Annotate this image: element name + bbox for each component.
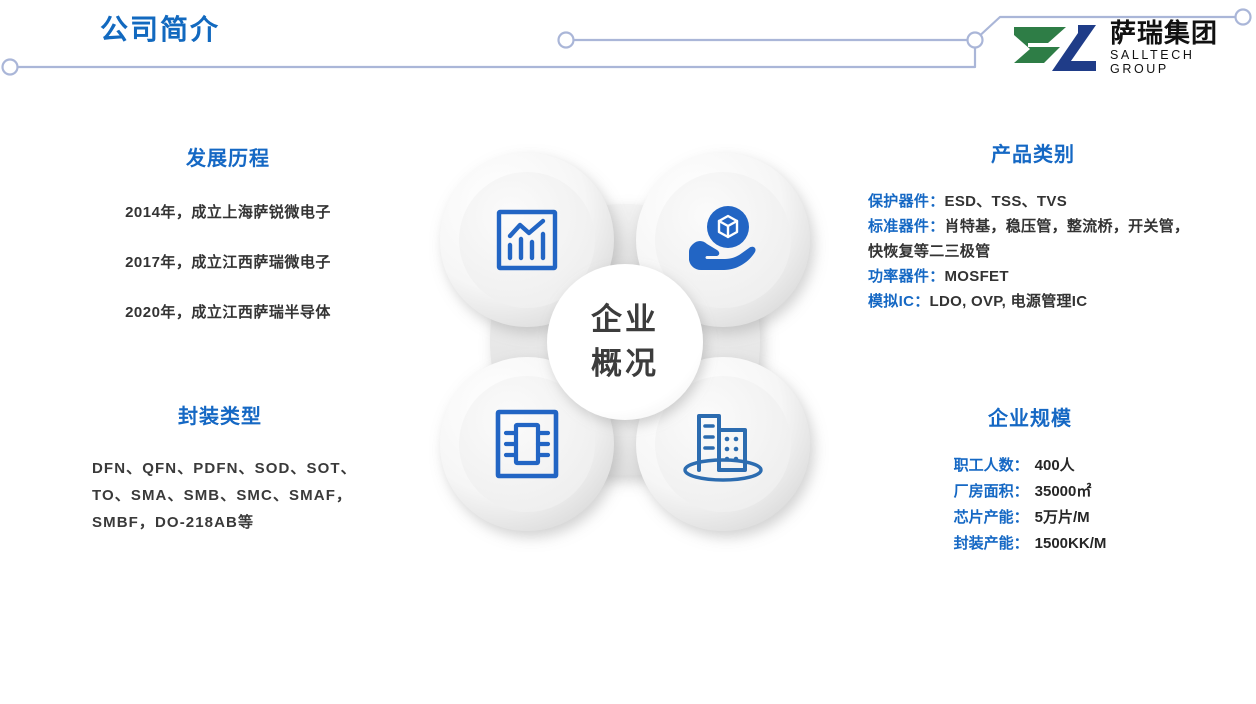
- product-label: 模拟IC：: [868, 293, 930, 310]
- history-item: 2020年，成立江西萨瑞半导体: [70, 301, 386, 322]
- scale-label: 厂房面积：: [954, 479, 1035, 505]
- table-row: 职工人数： 400人: [954, 453, 1107, 479]
- block-title-history: 发展历程: [70, 142, 386, 171]
- block-company-scale: 企业规模 职工人数： 400人 厂房面积： 35000㎡ 芯片产能： 5万片/M…: [880, 402, 1180, 557]
- block-title-products: 产品类别: [868, 138, 1198, 167]
- block-title-package: 封装类型: [70, 400, 370, 429]
- package-types-text: DFN、QFN、PDFN、SOD、SOT、TO、SMA、SMB、SMC、SMAF…: [70, 455, 370, 536]
- history-item: 2017年，成立江西萨瑞微电子: [70, 251, 386, 272]
- scale-value: 1500KK/M: [1035, 531, 1107, 557]
- salltech-logo-mark: [1008, 21, 1100, 77]
- scale-label: 封装产能：: [954, 531, 1035, 557]
- header-node-junction: [968, 33, 983, 48]
- scale-label: 职工人数：: [954, 453, 1035, 479]
- product-line: 模拟IC：LDO, OVP, 电源管理IC: [868, 289, 1198, 314]
- product-value: MOSFET: [945, 268, 1009, 285]
- product-line: 功率器件：MOSFET: [868, 264, 1198, 289]
- product-label: 保护器件：: [868, 193, 945, 210]
- table-row: 封装产能： 1500KK/M: [954, 531, 1107, 557]
- product-line: 标准器件：肖特基，稳压管，整流桥，开关管，快恢复等二三极管: [868, 214, 1198, 264]
- logo-name-en: SALLTECH GROUP: [1110, 49, 1248, 77]
- brand-logo: 萨瑞集团 SALLTECH GROUP: [1008, 16, 1248, 82]
- block-product-categories: 产品类别 保护器件：ESD、TSS、TVS 标准器件：肖特基，稳压管，整流桥，开…: [868, 138, 1198, 314]
- table-row: 芯片产能： 5万片/M: [954, 505, 1107, 531]
- scale-value: 400人: [1035, 453, 1107, 479]
- history-item: 2014年，成立上海萨锐微电子: [70, 201, 386, 222]
- scale-value: 35000㎡: [1035, 479, 1107, 505]
- block-development-history: 发展历程 2014年，成立上海萨锐微电子 2017年，成立江西萨瑞微电子 202…: [70, 142, 386, 322]
- header-node-left: [3, 60, 18, 75]
- product-line: 保护器件：ESD、TSS、TVS: [868, 189, 1198, 214]
- product-value: LDO, OVP, 电源管理IC: [930, 293, 1088, 310]
- header-node-middle: [559, 33, 574, 48]
- product-label: 标准器件：: [868, 218, 945, 235]
- page-title: 公司简介: [100, 8, 220, 48]
- product-label: 功率器件：: [868, 268, 945, 285]
- company-overview-diagram: 企业 概况: [408, 122, 842, 562]
- table-row: 厂房面积： 35000㎡: [954, 479, 1107, 505]
- block-title-scale: 企业规模: [880, 402, 1180, 431]
- diagram-core-circle: [547, 264, 703, 420]
- block-package-types: 封装类型 DFN、QFN、PDFN、SOD、SOT、TO、SMA、SMB、SMC…: [70, 400, 370, 536]
- product-value: ESD、TSS、TVS: [945, 193, 1068, 210]
- logo-name-cn: 萨瑞集团: [1110, 21, 1248, 48]
- scale-value: 5万片/M: [1035, 505, 1107, 531]
- scale-table: 职工人数： 400人 厂房面积： 35000㎡ 芯片产能： 5万片/M 封装产能…: [954, 453, 1107, 557]
- scale-label: 芯片产能：: [954, 505, 1035, 531]
